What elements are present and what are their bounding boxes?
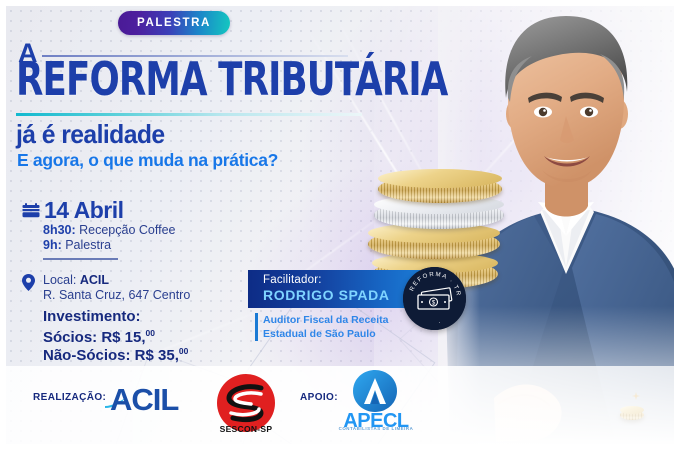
apoio-label: APOIO:: [300, 392, 338, 403]
price-nonmembers-cents: 00: [179, 346, 188, 356]
sescon-logo-text: SESCON-SP: [215, 424, 277, 434]
schedule-item-1: 8h30: Recepção Coffee: [43, 223, 176, 237]
location-label: Local:: [43, 273, 80, 287]
headline-subtitle: já é realidade: [16, 119, 165, 150]
price-members: Sócios: R$ 15,00: [43, 328, 155, 346]
realizacao-label: REALIZAÇÃO:: [33, 392, 106, 403]
palestra-badge: PALESTRA: [118, 11, 230, 35]
schedule-desc-1: Recepção Coffee: [76, 223, 176, 237]
price-nonmembers-label: Não-Sócios: R$ 35,: [43, 347, 179, 364]
facilitator-role-line2: Estadual de São Paulo: [263, 328, 388, 342]
schedule-time-1: 8h30:: [43, 223, 76, 237]
facilitator-role-bar: [255, 313, 258, 341]
facilitator-role-line1: Auditor Fiscal da Receita: [263, 314, 388, 328]
section-divider: [43, 258, 118, 260]
facilitator-panel: Facilitador: RODRIGO SPADA: [248, 270, 420, 308]
headline-title: REFORMA TRIBUTÁRIA: [16, 58, 447, 100]
calendar-icon: [22, 203, 40, 219]
facilitator-label: Facilitador:: [263, 273, 420, 287]
acil-logo: ACIL: [110, 382, 178, 418]
apecl-logo-mark: [353, 370, 397, 412]
schedule-item-2: 9h: Palestra: [43, 238, 111, 252]
investment-label: Investimento:: [43, 308, 141, 325]
schedule-time-2: 9h:: [43, 238, 62, 252]
event-date-row: 14 Abril: [22, 197, 124, 224]
event-date: 14 Abril: [44, 197, 124, 224]
price-members-label: Sócios: R$ 15,: [43, 329, 146, 346]
palestra-badge-label: PALESTRA: [137, 17, 211, 29]
location-name: ACIL: [80, 273, 109, 287]
facilitator-name: RODRIGO SPADA: [263, 287, 420, 305]
map-pin-icon: [22, 274, 35, 291]
price-members-cents: 00: [146, 328, 155, 338]
location-line: Local: ACIL: [43, 273, 109, 287]
price-nonmembers: Não-Sócios: R$ 35,00: [43, 346, 188, 364]
facilitator-role: Auditor Fiscal da Receita Estadual de Sã…: [263, 314, 388, 342]
location-address: R. Santa Cruz, 647 Centro: [43, 288, 190, 302]
headline-question: E agora, o que muda na prática?: [17, 150, 278, 171]
headline-rule-cyan: [16, 113, 362, 116]
apecl-tagline: CONTABILISTAS DE LIMEIRA: [335, 426, 417, 431]
reforma-tributaria-seal: REFORMA · TRIBUTÁRIA · $: [403, 267, 466, 330]
event-poster: PALESTRA A REFORMA TRIBUTÁRIA já é reali…: [0, 0, 680, 450]
schedule-desc-2: Palestra: [62, 238, 111, 252]
